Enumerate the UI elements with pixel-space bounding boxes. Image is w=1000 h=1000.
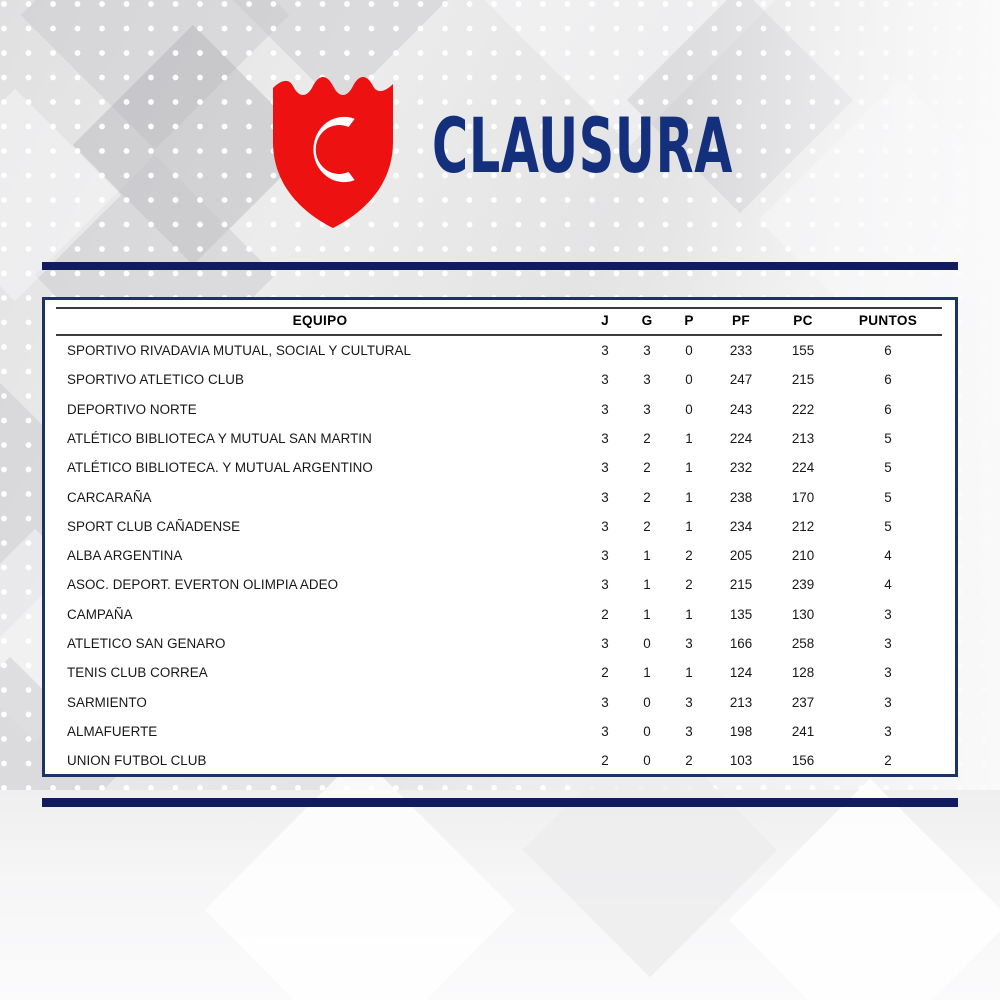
cell-j: 2 xyxy=(584,658,626,687)
cell-pf: 124 xyxy=(710,658,772,687)
cell-g: 0 xyxy=(626,687,668,716)
cell-pc: 213 xyxy=(772,424,834,453)
cell-pf: 234 xyxy=(710,512,772,541)
table-row: ALBA ARGENTINA3122052104 xyxy=(56,541,942,570)
cell-puntos: 2 xyxy=(834,746,942,775)
cell-p: 0 xyxy=(668,335,710,365)
cell-j: 3 xyxy=(584,424,626,453)
cell-pf: 233 xyxy=(710,335,772,365)
cell-pc: 215 xyxy=(772,365,834,394)
cell-g: 2 xyxy=(626,453,668,482)
cell-p: 3 xyxy=(668,629,710,658)
cell-puntos: 3 xyxy=(834,629,942,658)
table-header: EQUIPO J G P PF PC PUNTOS xyxy=(56,308,942,335)
cell-p: 1 xyxy=(668,512,710,541)
cell-pc: 239 xyxy=(772,570,834,599)
cell-pf: 198 xyxy=(710,717,772,746)
cell-pf: 238 xyxy=(710,482,772,511)
cell-pf: 213 xyxy=(710,687,772,716)
table-header-row: EQUIPO J G P PF PC PUNTOS xyxy=(56,308,942,335)
cell-pf: 247 xyxy=(710,365,772,394)
standings-table: EQUIPO J G P PF PC PUNTOS SPORTIVO RIVAD… xyxy=(56,307,942,775)
cell-p: 2 xyxy=(668,746,710,775)
cell-equipo: SPORTIVO ATLETICO CLUB xyxy=(56,365,584,394)
cell-g: 1 xyxy=(626,541,668,570)
cell-equipo: ATLETICO SAN GENARO xyxy=(56,629,584,658)
column-header-equipo: EQUIPO xyxy=(56,308,584,335)
cell-pc: 170 xyxy=(772,482,834,511)
cell-g: 0 xyxy=(626,629,668,658)
cell-pc: 237 xyxy=(772,687,834,716)
cell-equipo: SARMIENTO xyxy=(56,687,584,716)
cell-j: 2 xyxy=(584,600,626,629)
cell-g: 2 xyxy=(626,424,668,453)
table-row: DEPORTIVO NORTE3302432226 xyxy=(56,395,942,424)
table-row: SPORTIVO ATLETICO CLUB3302472156 xyxy=(56,365,942,394)
cell-equipo: SPORT CLUB CAÑADENSE xyxy=(56,512,584,541)
cell-p: 1 xyxy=(668,424,710,453)
cell-g: 3 xyxy=(626,335,668,365)
cell-pc: 155 xyxy=(772,335,834,365)
cell-j: 3 xyxy=(584,453,626,482)
cell-p: 3 xyxy=(668,717,710,746)
cell-p: 2 xyxy=(668,541,710,570)
cell-p: 1 xyxy=(668,482,710,511)
cell-puntos: 6 xyxy=(834,365,942,394)
divider-bottom xyxy=(42,798,958,807)
cell-p: 0 xyxy=(668,395,710,424)
cell-equipo: DEPORTIVO NORTE xyxy=(56,395,584,424)
cell-pc: 222 xyxy=(772,395,834,424)
standings-card: EQUIPO J G P PF PC PUNTOS SPORTIVO RIVAD… xyxy=(42,297,958,777)
cell-p: 1 xyxy=(668,600,710,629)
cell-equipo: CAMPAÑA xyxy=(56,600,584,629)
cell-puntos: 4 xyxy=(834,541,942,570)
cell-pf: 103 xyxy=(710,746,772,775)
page-title: CLAUSURA xyxy=(432,108,733,184)
cell-puntos: 6 xyxy=(834,335,942,365)
cell-g: 0 xyxy=(626,746,668,775)
table-row: SARMIENTO3032132373 xyxy=(56,687,942,716)
column-header-pf: PF xyxy=(710,308,772,335)
cell-pf: 166 xyxy=(710,629,772,658)
cell-pf: 232 xyxy=(710,453,772,482)
cell-pc: 128 xyxy=(772,658,834,687)
cell-equipo: ATLÉTICO BIBLIOTECA. Y MUTUAL ARGENTINO xyxy=(56,453,584,482)
cell-puntos: 3 xyxy=(834,717,942,746)
cell-equipo: ALBA ARGENTINA xyxy=(56,541,584,570)
cell-equipo: TENIS CLUB CORREA xyxy=(56,658,584,687)
table-row: ATLETICO SAN GENARO3031662583 xyxy=(56,629,942,658)
column-header-g: G xyxy=(626,308,668,335)
table-body: SPORTIVO RIVADAVIA MUTUAL, SOCIAL Y CULT… xyxy=(56,335,942,775)
cell-g: 1 xyxy=(626,570,668,599)
cell-pf: 135 xyxy=(710,600,772,629)
cell-equipo: SPORTIVO RIVADAVIA MUTUAL, SOCIAL Y CULT… xyxy=(56,335,584,365)
footer: SFB KION xyxy=(0,838,1000,958)
cell-pc: 224 xyxy=(772,453,834,482)
cell-j: 3 xyxy=(584,365,626,394)
table-row: CAMPAÑA2111351303 xyxy=(56,600,942,629)
cell-j: 3 xyxy=(584,541,626,570)
cell-pf: 224 xyxy=(710,424,772,453)
cell-puntos: 5 xyxy=(834,482,942,511)
table-row: UNION FUTBOL CLUB2021031562 xyxy=(56,746,942,775)
cell-p: 3 xyxy=(668,687,710,716)
table-row: ATLÉTICO BIBLIOTECA. Y MUTUAL ARGENTINO3… xyxy=(56,453,942,482)
cell-pc: 210 xyxy=(772,541,834,570)
cell-p: 0 xyxy=(668,365,710,394)
column-header-pc: PC xyxy=(772,308,834,335)
cell-g: 3 xyxy=(626,365,668,394)
table-row: TENIS CLUB CORREA2111241283 xyxy=(56,658,942,687)
cell-equipo: ASOC. DEPORT. EVERTON OLIMPIA ADEO xyxy=(56,570,584,599)
cell-j: 3 xyxy=(584,629,626,658)
cell-j: 3 xyxy=(584,512,626,541)
cell-j: 3 xyxy=(584,335,626,365)
cell-g: 2 xyxy=(626,512,668,541)
cell-j: 2 xyxy=(584,746,626,775)
table-row: ALMAFUERTE3031982413 xyxy=(56,717,942,746)
cell-puntos: 6 xyxy=(834,395,942,424)
table-row: SPORTIVO RIVADAVIA MUTUAL, SOCIAL Y CULT… xyxy=(56,335,942,365)
cell-puntos: 3 xyxy=(834,600,942,629)
cell-pc: 212 xyxy=(772,512,834,541)
divider-top xyxy=(42,262,958,270)
cell-equipo: ATLÉTICO BIBLIOTECA Y MUTUAL SAN MARTIN xyxy=(56,424,584,453)
column-header-j: J xyxy=(584,308,626,335)
cell-pc: 156 xyxy=(772,746,834,775)
standings-table-wrapper: EQUIPO J G P PF PC PUNTOS SPORTIVO RIVAD… xyxy=(45,300,955,774)
cell-puntos: 5 xyxy=(834,424,942,453)
cell-g: 3 xyxy=(626,395,668,424)
header: CLAUSURA xyxy=(0,0,1000,258)
cell-pc: 258 xyxy=(772,629,834,658)
table-row: CARCARAÑA3212381705 xyxy=(56,482,942,511)
table-row: ATLÉTICO BIBLIOTECA Y MUTUAL SAN MARTIN3… xyxy=(56,424,942,453)
cell-j: 3 xyxy=(584,687,626,716)
column-header-p: P xyxy=(668,308,710,335)
cell-puntos: 3 xyxy=(834,687,942,716)
cell-pf: 243 xyxy=(710,395,772,424)
cell-pf: 215 xyxy=(710,570,772,599)
cell-g: 1 xyxy=(626,658,668,687)
cell-pc: 241 xyxy=(772,717,834,746)
cell-p: 2 xyxy=(668,570,710,599)
cell-g: 1 xyxy=(626,600,668,629)
cell-puntos: 5 xyxy=(834,512,942,541)
cell-p: 1 xyxy=(668,453,710,482)
cell-pf: 205 xyxy=(710,541,772,570)
cell-equipo: UNION FUTBOL CLUB xyxy=(56,746,584,775)
cell-j: 3 xyxy=(584,395,626,424)
cell-g: 2 xyxy=(626,482,668,511)
cell-puntos: 5 xyxy=(834,453,942,482)
cell-j: 3 xyxy=(584,717,626,746)
cell-p: 1 xyxy=(668,658,710,687)
cell-puntos: 3 xyxy=(834,658,942,687)
cell-j: 3 xyxy=(584,482,626,511)
cell-puntos: 4 xyxy=(834,570,942,599)
cell-pc: 130 xyxy=(772,600,834,629)
table-row: ASOC. DEPORT. EVERTON OLIMPIA ADEO312215… xyxy=(56,570,942,599)
cell-j: 3 xyxy=(584,570,626,599)
cell-equipo: ALMAFUERTE xyxy=(56,717,584,746)
column-header-puntos: PUNTOS xyxy=(834,308,942,335)
cell-equipo: CARCARAÑA xyxy=(56,482,584,511)
cell-g: 0 xyxy=(626,717,668,746)
table-row: SPORT CLUB CAÑADENSE3212342125 xyxy=(56,512,942,541)
clausura-shield-icon xyxy=(273,76,393,228)
